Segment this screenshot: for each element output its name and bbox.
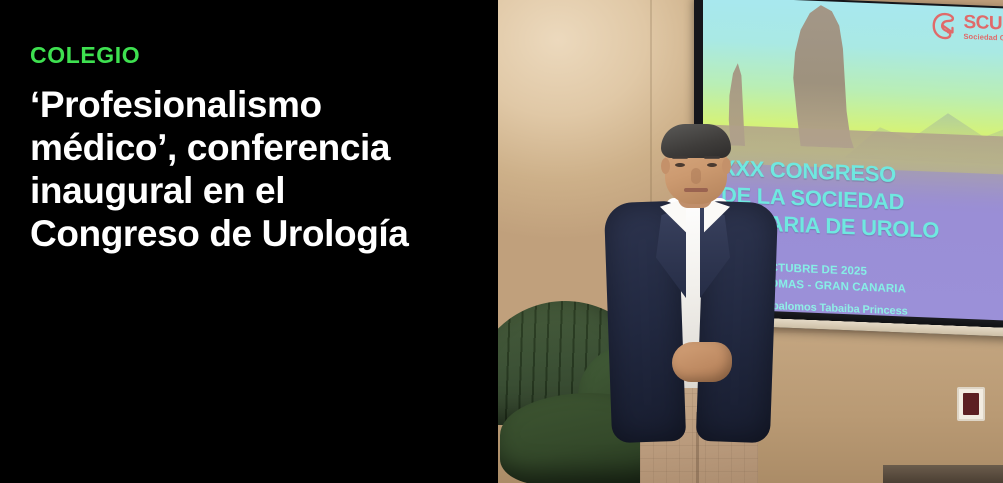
- person-ear-right: [722, 158, 731, 174]
- article-kicker[interactable]: COLEGIO: [30, 44, 464, 67]
- person-hands: [672, 342, 732, 382]
- wall-panel: [957, 387, 985, 421]
- article-card: COLEGIO ‘Profesionalismo médico’, confer…: [0, 0, 1003, 483]
- kidney-icon: [930, 10, 960, 41]
- person-ear-left: [661, 158, 670, 174]
- person-mouth: [684, 188, 708, 192]
- person-nose: [691, 168, 701, 184]
- scu-logo: SCU Sociedad Canaria: [930, 10, 1003, 44]
- scu-wordmark: SCU Sociedad Canaria: [963, 13, 1003, 43]
- scu-subtitle: Sociedad Canaria: [963, 33, 1003, 43]
- article-text-panel: COLEGIO ‘Profesionalismo médico’, confer…: [0, 0, 498, 483]
- article-headline[interactable]: ‘Profesionalismo médico’, conferencia in…: [30, 84, 460, 256]
- person-eye-right: [707, 163, 717, 167]
- person-eye-left: [675, 163, 685, 167]
- article-photo: SCU Sociedad Canaria XXX CONGRESO DE LA …: [498, 0, 1003, 483]
- person-brow-right: [704, 156, 720, 159]
- person-brow-left: [672, 156, 688, 159]
- person-hair: [661, 124, 731, 158]
- floor-strip: [883, 465, 1003, 483]
- person-standing: [616, 128, 806, 483]
